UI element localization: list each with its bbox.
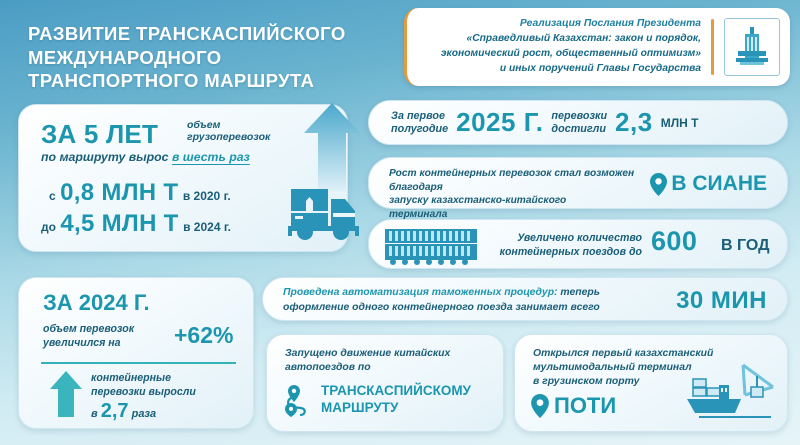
banner-line-3: экономический рост, общественный оптимиз… — [421, 47, 701, 62]
year-2024-growth-line-1: контейнерные — [91, 371, 196, 385]
customs-line-1: Проведена автоматизация таможенных проце… — [283, 285, 600, 300]
china-route-line-2: МАРШРУТУ — [321, 400, 471, 417]
five-years-row-2024: до 4,5 МЛН Т в 2024 г. — [41, 210, 231, 238]
year-2024-growth-line-2: перевозки выросли — [91, 385, 196, 399]
xian-text: Рост контейнерных перевозок стал возможе… — [389, 167, 639, 221]
half-2025-unit: МЛН Т — [661, 116, 699, 130]
customs-text: Проведена автоматизация таможенных проце… — [283, 285, 600, 315]
row-2020-prefix: с — [49, 189, 56, 203]
page-title-line-3: ТРАНСПОРТНОГО МАРШРУТА — [28, 69, 398, 93]
year-2024-divider — [41, 362, 236, 364]
arrow-up-icon — [49, 370, 83, 418]
page-title: РАЗВИТИЕ ТРАНСКАСПИЙСКОГО МЕЖДУНАРОДНОГО… — [28, 22, 398, 93]
five-years-headline: ЗА 5 ЛЕТ — [41, 119, 158, 150]
year-2024-growth-prefix: в — [91, 408, 98, 420]
year-2024-sub: объем перевозок увеличился на — [43, 322, 134, 351]
xian-text-line-2: запуску казахстанско-китайского — [389, 194, 639, 208]
customs-highlight: Проведена автоматизация таможенных проце… — [283, 287, 558, 298]
banner-line-4: и иных поручений Главы Государства — [421, 62, 701, 77]
year-2024-percent: +62% — [174, 322, 233, 349]
president-address-banner: Реализация Послания Президента «Справедл… — [404, 8, 790, 86]
row-2024-value: 4,5 МЛН Т — [60, 210, 178, 237]
row-2024-prefix: до — [41, 220, 56, 234]
year-2024-growth-value: 2,7 — [101, 400, 129, 422]
five-years-note-line-1: объем — [187, 119, 270, 131]
half-2025-mid-line-2: достигли — [551, 123, 607, 136]
pill-xian-terminal: Рост контейнерных перевозок стал возможе… — [368, 157, 788, 209]
china-route-line-1: ТРАНСКАСПИЙСКОМУ — [321, 383, 471, 400]
pill-first-half-2025: За первое полугодие 2025 Г. перевозки до… — [368, 100, 788, 145]
half-2025-label-line-1: За первое — [391, 110, 448, 123]
china-text: Запущено движение китайских автопоездов … — [285, 347, 450, 375]
trains-600-text-line-2: контейнерных поездов до — [487, 245, 642, 259]
half-2025-mid-label: перевозки достигли — [551, 110, 607, 136]
row-2020-suffix: в 2020 г. — [183, 189, 231, 203]
banner-divider — [711, 19, 714, 75]
arrow-up-icon — [302, 101, 362, 193]
banner-line-1: Реализация Послания Президента — [421, 17, 701, 32]
trains-600-text: Увеличено количество контейнерных поездо… — [487, 231, 642, 260]
trains-600-unit: В ГОД — [721, 237, 770, 255]
poti-place-label: ПОТИ — [554, 393, 616, 419]
pill-container-trains: Увеличено количество контейнерных поездо… — [368, 219, 788, 269]
five-years-note: объем грузоперевозок — [187, 119, 270, 144]
year-2024-growth-suffix: раза — [132, 408, 157, 420]
cargo-truck-icon — [287, 183, 361, 241]
location-pin-icon — [650, 173, 667, 196]
half-2025-value: 2,3 — [615, 107, 653, 138]
poti-text-line-1: Открылся первый казахстанский — [533, 347, 713, 361]
five-years-note-line-2: грузоперевозок — [187, 131, 270, 143]
card-year-2024: ЗА 2024 Г. объем перевозок увеличился на… — [18, 277, 254, 429]
xian-place-label: В СИАНЕ — [671, 172, 767, 196]
trains-600-value: 600 — [651, 226, 697, 257]
year-2024-growth-value-row: в 2,7 раза — [91, 400, 156, 423]
page-title-line-2: МЕЖДУНАРОДНОГО — [28, 46, 398, 70]
year-2024-growth-label: контейнерные перевозки выросли — [91, 371, 196, 400]
china-route-block: ТРАНСКАСПИЙСКОМУ МАРШРУТУ — [285, 383, 471, 417]
pill-customs-automation: Проведена автоматизация таможенных проце… — [262, 277, 788, 321]
xian-place: В СИАНЕ — [650, 172, 767, 196]
card-china-road-trains: Запущено движение китайских автопоездов … — [266, 334, 504, 432]
card-five-years: ЗА 5 ЛЕТ объем грузоперевозок по маршрут… — [18, 104, 348, 252]
row-2020-value: 0,8 МЛН Т — [60, 179, 178, 206]
half-2025-label: За первое полугодие — [391, 110, 448, 136]
xian-text-line-1: Рост контейнерных перевозок стал возможе… — [389, 167, 689, 194]
government-building-icon — [724, 18, 780, 76]
five-years-subtitle-prefix: по маршруту вырос — [41, 150, 169, 164]
five-years-subtitle: по маршруту вырос в шесть раз — [41, 150, 250, 164]
poti-place: ПОТИ — [531, 393, 616, 419]
customs-plain-tail: теперь — [558, 287, 600, 298]
customs-value: 30 МИН — [676, 287, 767, 315]
president-address-text: Реализация Послания Президента «Справедл… — [407, 17, 711, 77]
half-2025-year: 2025 Г. — [456, 107, 543, 138]
year-2024-sub-line-2: увеличился на — [43, 336, 134, 350]
year-2024-sub-line-1: объем перевозок — [43, 322, 134, 336]
half-2025-mid-line-1: перевозки — [551, 110, 607, 123]
china-text-line-1: Запущено движение китайских — [285, 347, 450, 361]
five-years-subtitle-highlight: в шесть раз — [172, 150, 250, 164]
card-poti-terminal: Открылся первый казахстанский мультимода… — [514, 334, 788, 432]
infographic-root: РАЗВИТИЕ ТРАНСКАСПИЙСКОГО МЕЖДУНАРОДНОГО… — [0, 0, 800, 445]
banner-line-2: «Справедливый Казахстан: закон и порядок… — [421, 32, 701, 47]
china-text-line-2: автопоездов по — [285, 361, 450, 375]
port-crane-ship-icon — [685, 361, 777, 423]
trains-600-text-line-1: Увеличено количество — [487, 231, 642, 245]
route-path-icon — [285, 383, 315, 417]
container-train-icon — [383, 228, 479, 266]
page-title-line-1: РАЗВИТИЕ ТРАНСКАСПИЙСКОГО — [28, 22, 398, 46]
half-2025-label-line-2: полугодие — [391, 123, 448, 136]
location-pin-icon — [531, 394, 549, 418]
year-2024-headline: ЗА 2024 Г. — [43, 290, 150, 316]
five-years-row-2020: с 0,8 МЛН Т в 2020 г. — [49, 179, 231, 207]
customs-line-2: оформление одного контейнерного поезда з… — [283, 300, 600, 315]
row-2024-suffix: в 2024 г. — [183, 220, 231, 234]
